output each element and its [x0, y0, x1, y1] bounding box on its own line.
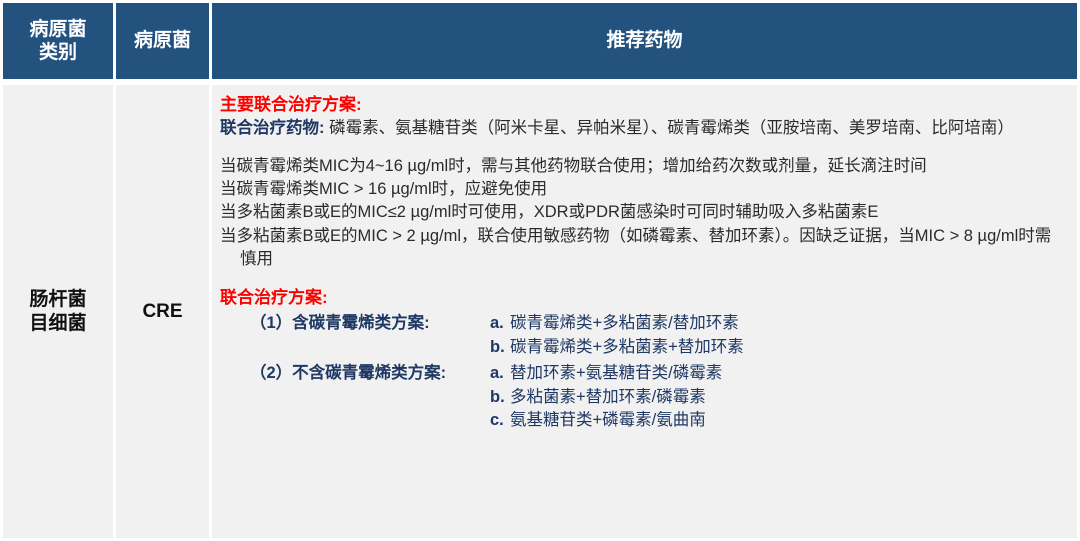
heading-main-combination-therapy: 主要联合治疗方案: — [220, 93, 1067, 117]
pathogen-value: CRE — [142, 301, 182, 323]
cell-pathogen: CRE — [116, 85, 209, 538]
header-cell-pathogen-category: 病原菌 类别 — [3, 3, 113, 79]
header-category-line1: 病原菌 — [29, 18, 86, 41]
spacer-2 — [220, 272, 1067, 286]
cell-recommended-drugs: 主要联合治疗方案: 联合治疗药物: 磷霉素、氨基糖苷类（阿米卡星、异帕米星）、碳… — [212, 85, 1077, 538]
header-cell-recommended-drugs: 推荐药物 — [212, 3, 1077, 79]
table-header-row: 病原菌 类别 病原菌 推荐药物 — [0, 0, 1080, 82]
scheme-2-label: （2）不含碳青霉烯类方案: — [220, 362, 490, 385]
category-line1: 肠杆菌 — [29, 288, 86, 312]
scheme-1-items: a. 碳青霉烯类+多粘菌素/替加环素 b. 碳青霉烯类+多粘菌素+替加环素 — [490, 312, 744, 360]
heading-combination-schemes: 联合治疗方案: — [220, 286, 1067, 310]
list-item: b. 碳青霉烯类+多粘菌素+替加环素 — [490, 336, 744, 360]
header-pathogen-label: 病原菌 — [134, 29, 191, 52]
note-line-3: 当多粘菌素B或E的MIC≤2 µg/ml时可使用，XDR或PDR菌感染时可同时辅… — [220, 201, 1067, 224]
scheme-2-item-c-text: 氨基糖苷类+磷霉素/氨曲南 — [510, 409, 706, 433]
note-line-1: 当碳青霉烯类MIC为4~16 µg/ml时，需与其他药物联合使用；增加给药次数或… — [220, 155, 1067, 178]
scheme-row-2: （2）不含碳青霉烯类方案: a. 替加环素+氨基糖苷类/磷霉素 b. 多粘菌素+… — [220, 362, 1067, 434]
scheme-1-item-a-text: 碳青霉烯类+多粘菌素/替加环素 — [510, 312, 739, 336]
scheme-2-items: a. 替加环素+氨基糖苷类/磷霉素 b. 多粘菌素+替加环素/磷霉素 c. 氨基… — [490, 362, 722, 434]
list-item: a. 替加环素+氨基糖苷类/磷霉素 — [490, 362, 722, 386]
scheme-1-item-b-text: 碳青霉烯类+多粘菌素+替加环素 — [510, 336, 744, 360]
scheme-group-1: （1）含碳青霉烯类方案: a. 碳青霉烯类+多粘菌素/替加环素 b. 碳青霉烯类… — [220, 312, 1067, 360]
scheme-1-item-a-key: a. — [490, 312, 510, 336]
cell-pathogen-category: 肠杆菌 目细菌 — [3, 85, 113, 538]
scheme-row-1: （1）含碳青霉烯类方案: a. 碳青霉烯类+多粘菌素/替加环素 b. 碳青霉烯类… — [220, 312, 1067, 360]
note-line-2: 当碳青霉烯类MIC > 16 µg/ml时，应避免使用 — [220, 178, 1067, 201]
table-row: 肠杆菌 目细菌 CRE 主要联合治疗方案: 联合治疗药物: 磷霉素、氨基糖苷类（… — [0, 82, 1080, 541]
scheme-1-label: （1）含碳青霉烯类方案: — [220, 312, 490, 335]
scheme-2-item-b-key: b. — [490, 386, 510, 410]
category-line2: 目细菌 — [29, 312, 86, 336]
list-item: c. 氨基糖苷类+磷霉素/氨曲南 — [490, 409, 722, 433]
scheme-2-item-b-text: 多粘菌素+替加环素/磷霉素 — [510, 386, 706, 410]
combination-drugs-text: 磷霉素、氨基糖苷类（阿米卡星、异帕米星）、碳青霉烯类（亚胺培南、美罗培南、比阿培… — [325, 119, 1014, 137]
combination-drugs-label: 联合治疗药物: — [220, 119, 325, 137]
spacer-1 — [220, 141, 1067, 155]
scheme-group-2: （2）不含碳青霉烯类方案: a. 替加环素+氨基糖苷类/磷霉素 b. 多粘菌素+… — [220, 362, 1067, 434]
list-item: b. 多粘菌素+替加环素/磷霉素 — [490, 386, 722, 410]
scheme-1-item-b-key: b. — [490, 336, 510, 360]
header-cell-pathogen: 病原菌 — [116, 3, 209, 79]
scheme-2-item-a-text: 替加环素+氨基糖苷类/磷霉素 — [510, 362, 722, 386]
list-item: a. 碳青霉烯类+多粘菌素/替加环素 — [490, 312, 744, 336]
scheme-2-item-c-key: c. — [490, 409, 510, 433]
scheme-2-item-a-key: a. — [490, 362, 510, 386]
recommendation-table: 病原菌 类别 病原菌 推荐药物 肠杆菌 目细菌 CRE 主要联合治疗方案: 联合… — [0, 0, 1080, 541]
combination-drugs-paragraph: 联合治疗药物: 磷霉素、氨基糖苷类（阿米卡星、异帕米星）、碳青霉烯类（亚胺培南、… — [220, 117, 1067, 140]
note-line-4: 当多粘菌素B或E的MIC > 2 µg/ml，联合使用敏感药物（如磷霉素、替加环… — [220, 225, 1067, 272]
header-recommended-drugs-label: 推荐药物 — [606, 29, 682, 52]
header-category-line2: 类别 — [29, 41, 86, 64]
